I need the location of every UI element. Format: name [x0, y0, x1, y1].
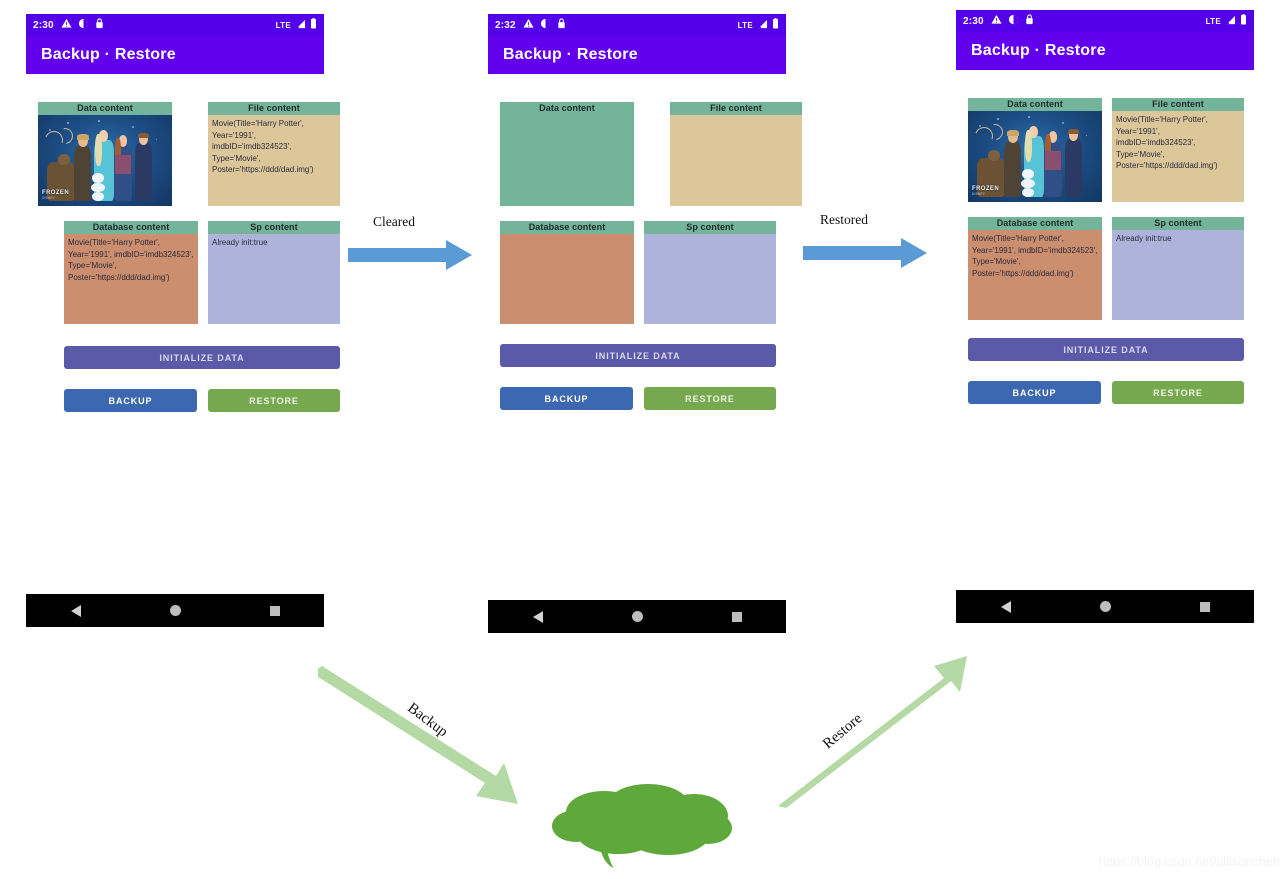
- panel-data-title: Data content: [38, 102, 172, 115]
- panel-data-title: Data content: [500, 102, 634, 115]
- signal-icon: [757, 16, 768, 34]
- warning-icon: [61, 16, 72, 34]
- status-bar: 2:30 LTE: [26, 14, 324, 36]
- home-icon[interactable]: [632, 611, 643, 622]
- app-content: Data content: [26, 74, 324, 594]
- backup-button[interactable]: BACKUP: [64, 389, 197, 412]
- status-left-icons: [991, 12, 1034, 30]
- status-left-icons: [61, 16, 104, 34]
- status-time: 2:32: [495, 20, 516, 31]
- panel-database-body: Movie(Title='Harry Potter', Year='1991',…: [968, 230, 1102, 320]
- lock-icon: [557, 16, 566, 34]
- app-title: Backup · Restore: [41, 46, 176, 64]
- panel-database-body: [500, 234, 634, 324]
- panel-sp-body: Already init:true: [208, 234, 340, 324]
- status-left-icons: [523, 16, 566, 34]
- panel-data-body: [500, 115, 634, 206]
- panel-database-body: Movie(Title='Harry Potter', Year='1991',…: [64, 234, 198, 324]
- panel-file-title: File content: [670, 102, 802, 115]
- status-bar: 2:32 LTE: [488, 14, 786, 36]
- app-bar: Backup · Restore: [488, 36, 786, 74]
- android-navigation-bar: [956, 590, 1254, 623]
- restore-button[interactable]: RESTORE: [208, 389, 340, 412]
- status-right-icons: LTE: [1206, 12, 1247, 30]
- panel-file-content: File content: [670, 102, 802, 206]
- battery-icon: [1240, 12, 1247, 30]
- app-bar: Backup · Restore: [956, 32, 1254, 70]
- network-type-label: LTE: [276, 21, 291, 30]
- panel-file-content: File content Movie(Title='Harry Potter',…: [208, 102, 340, 206]
- panel-file-title: File content: [208, 102, 340, 115]
- status-right-icons: LTE: [276, 16, 317, 34]
- app-title: Backup · Restore: [503, 46, 638, 64]
- panel-file-body: Movie(Title='Harry Potter', Year='1991',…: [1112, 111, 1244, 202]
- recents-icon[interactable]: [732, 612, 742, 622]
- panel-sp-content: Sp content Already init:true: [208, 221, 340, 324]
- panel-file-body: [670, 115, 802, 206]
- signal-icon: [295, 16, 306, 34]
- flow-arrow-cleared-label: Cleared: [373, 214, 415, 230]
- phone-screen-restored: 2:30 LTE Backup · Restore Data: [956, 10, 1254, 590]
- restore-button[interactable]: RESTORE: [1112, 381, 1244, 404]
- panel-database-content: Database content Movie(Title='Harry Pott…: [968, 217, 1102, 320]
- panel-sp-content: Sp content Already init:true: [1112, 217, 1244, 320]
- panel-database-content: Database content Movie(Title='Harry Pott…: [64, 221, 198, 324]
- panel-database-title: Database content: [968, 217, 1102, 230]
- flow-arrow-restored-label: Restored: [820, 212, 868, 228]
- panel-file-title: File content: [1112, 98, 1244, 111]
- lock-icon: [95, 16, 104, 34]
- frozen-poster-image: FROZEN DISNEY: [38, 115, 172, 206]
- flow-arrow-backup: [318, 664, 526, 810]
- poster-studio-label: DISNEY: [972, 189, 985, 201]
- status-right-icons: LTE: [738, 16, 779, 34]
- panel-data-body: FROZEN DISNEY: [968, 111, 1102, 202]
- back-icon[interactable]: [71, 605, 81, 617]
- panel-sp-title: Sp content: [644, 221, 776, 234]
- panel-database-title: Database content: [500, 221, 634, 234]
- warning-icon: [991, 12, 1002, 30]
- recents-icon[interactable]: [270, 606, 280, 616]
- panel-database-content: Database content: [500, 221, 634, 324]
- poster-studio-label: DISNEY: [42, 193, 55, 205]
- android-navigation-bar: [26, 594, 324, 627]
- panel-file-body: Movie(Title='Harry Potter', Year='1991',…: [208, 115, 340, 206]
- status-time: 2:30: [963, 16, 984, 27]
- status-time: 2:30: [33, 20, 54, 31]
- network-type-label: LTE: [1206, 17, 1221, 26]
- panel-sp-body: Already init:true: [1112, 230, 1244, 320]
- phone-screen-before: 2:30 LTE Backup · Restore: [26, 14, 324, 594]
- panel-sp-title: Sp content: [208, 221, 340, 234]
- do-not-disturb-icon: [1008, 12, 1019, 30]
- back-icon[interactable]: [533, 611, 543, 623]
- flow-arrow-restore: [772, 650, 968, 808]
- app-content: Data content File content Database conte…: [488, 74, 786, 594]
- home-icon[interactable]: [1100, 601, 1111, 612]
- status-bar: 2:30 LTE: [956, 10, 1254, 32]
- panel-sp-content: Sp content: [644, 221, 776, 324]
- panel-data-content: Data content: [968, 98, 1102, 202]
- panel-sp-title: Sp content: [1112, 217, 1244, 230]
- restore-button[interactable]: RESTORE: [644, 387, 776, 410]
- android-navigation-bar: [488, 600, 786, 633]
- battery-icon: [310, 16, 317, 34]
- app-bar: Backup · Restore: [26, 36, 324, 74]
- panel-sp-body: [644, 234, 776, 324]
- do-not-disturb-icon: [540, 16, 551, 34]
- flow-arrow-restored: [803, 238, 927, 272]
- panel-data-content: Data content: [500, 102, 634, 206]
- cloud-storage-icon: [548, 782, 738, 868]
- initialize-data-button[interactable]: INITIALIZE DATA: [64, 346, 340, 369]
- flow-arrow-cleared: [348, 240, 472, 274]
- battery-icon: [772, 16, 779, 34]
- do-not-disturb-icon: [78, 16, 89, 34]
- recents-icon[interactable]: [1200, 602, 1210, 612]
- panel-data-body: FROZEN DISNEY: [38, 115, 172, 206]
- watermark-text: https://blog.csdn.net/allisonchen: [1099, 855, 1280, 869]
- home-icon[interactable]: [170, 605, 181, 616]
- initialize-data-button[interactable]: INITIALIZE DATA: [968, 338, 1244, 361]
- app-content: Data content: [956, 70, 1254, 590]
- panel-data-content: Data content: [38, 102, 172, 206]
- signal-icon: [1225, 12, 1236, 30]
- app-title: Backup · Restore: [971, 42, 1106, 60]
- network-type-label: LTE: [738, 21, 753, 30]
- panel-data-title: Data content: [968, 98, 1102, 111]
- phone-screen-cleared: 2:32 LTE Backup · Restore Data: [488, 14, 786, 594]
- warning-icon: [523, 16, 534, 34]
- panel-file-content: File content Movie(Title='Harry Potter',…: [1112, 98, 1244, 202]
- backup-button[interactable]: BACKUP: [500, 387, 633, 410]
- backup-button[interactable]: BACKUP: [968, 381, 1101, 404]
- lock-icon: [1025, 12, 1034, 30]
- panel-database-title: Database content: [64, 221, 198, 234]
- initialize-data-button[interactable]: INITIALIZE DATA: [500, 344, 776, 367]
- frozen-poster-image: FROZEN DISNEY: [968, 111, 1102, 202]
- back-icon[interactable]: [1001, 601, 1011, 613]
